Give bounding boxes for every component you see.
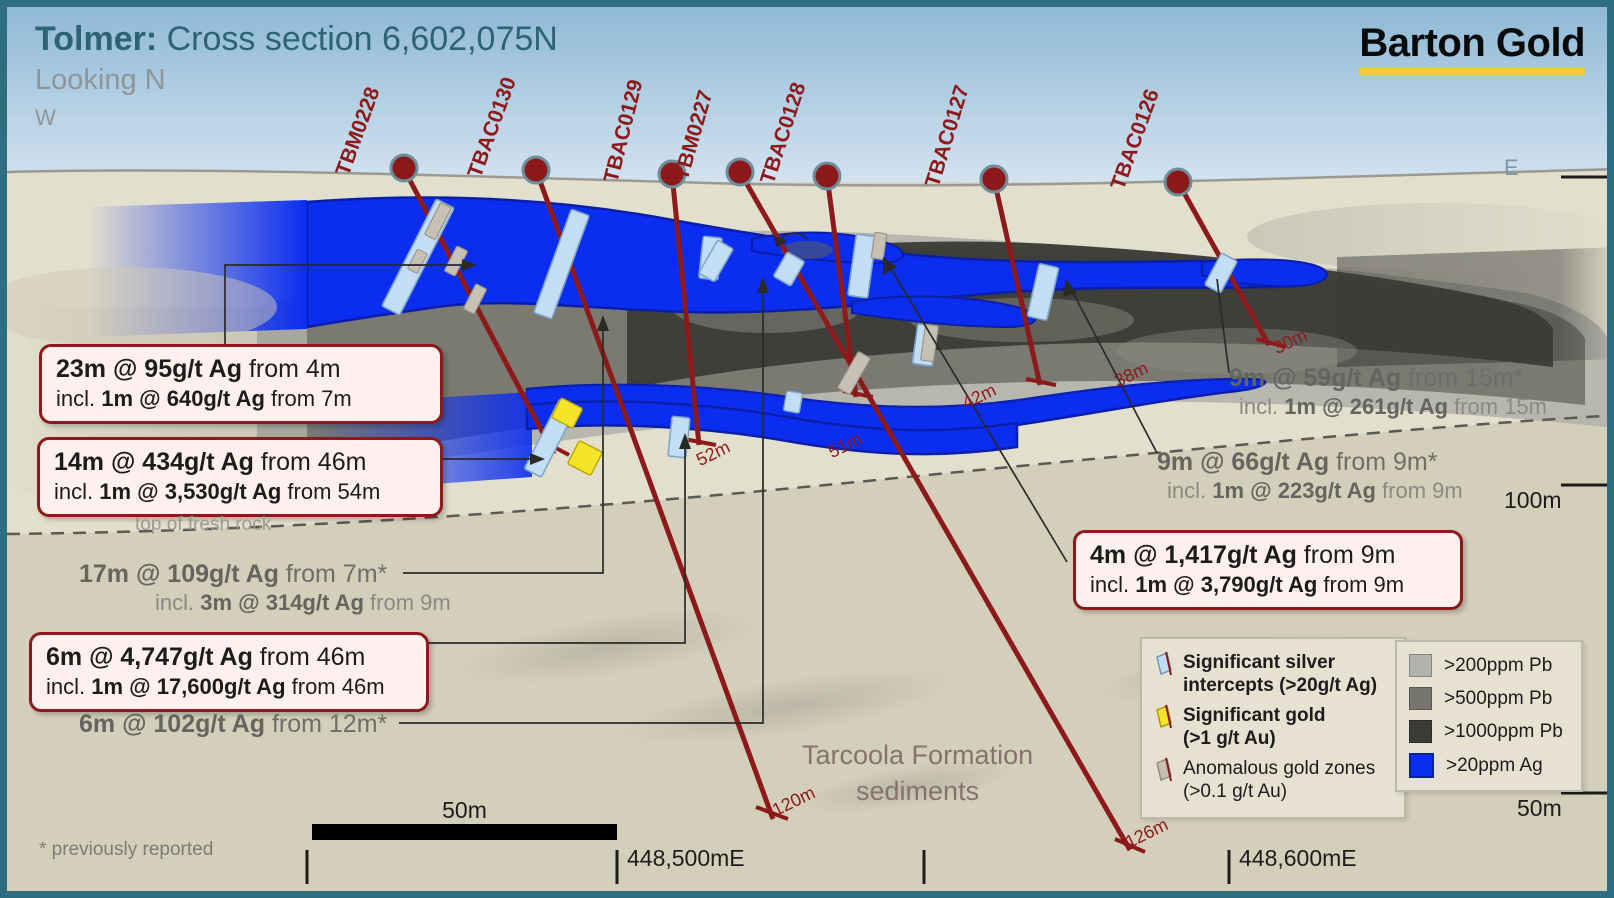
intercept-incl-value: 1m @ 3,530g/t Ag bbox=[99, 479, 281, 504]
intercept-line-1: 4m @ 1,417g/t Ag from 9m bbox=[1090, 540, 1446, 570]
intercept-line-2: incl. 3m @ 314g/t Ag from 9m bbox=[155, 589, 451, 616]
intercept-line-2: incl. 1m @ 640g/t Ag from 7m bbox=[56, 385, 426, 412]
intercept-line-2: incl. 1m @ 223g/t Ag from 9m bbox=[1167, 477, 1463, 504]
footnote-label: * previously reported bbox=[39, 839, 213, 861]
legend-silver-line2: intercepts (>20g/t Ag) bbox=[1183, 675, 1377, 696]
formation-label: Tarcoola Formation sediments bbox=[802, 737, 1033, 809]
legend-swatch-row-2: >1000ppm Pb bbox=[1409, 720, 1573, 743]
intercept-value: 6m @ 102g/t Ag bbox=[79, 710, 265, 738]
legend-label-anomalous: Anomalous gold zones (>0.1 g/t Au) bbox=[1183, 757, 1375, 803]
legend-silver-line1: Significant silver bbox=[1183, 652, 1335, 673]
intercept-line-1: 17m @ 109g/t Ag from 7m* bbox=[79, 559, 451, 589]
cross-section-figure: Tolmer: Cross section 6,602,075N Looking… bbox=[0, 0, 1614, 898]
intercept-from: from 9m bbox=[1297, 541, 1396, 569]
swatch-ag-20ppm bbox=[1409, 753, 1434, 778]
intercept-callout-2: 14m @ 434g/t Ag from 46m incl. 1m @ 3,53… bbox=[37, 437, 443, 517]
intercept-incl-prefix: incl. bbox=[54, 479, 99, 504]
legend-label-silver: Significant silver intercepts (>20g/t Ag… bbox=[1183, 651, 1377, 697]
intercept-callout-4: 6m @ 4,747g/t Ag from 46m incl. 1m @ 17,… bbox=[29, 632, 429, 712]
intercept-line-2: incl. 1m @ 17,600g/t Ag from 46m bbox=[46, 673, 412, 700]
legend-anomalous-line2: (>0.1 g/t Au) bbox=[1183, 781, 1287, 802]
title-bold: Tolmer: bbox=[35, 20, 157, 58]
swatch-label-ag-20ppm: >20ppm Ag bbox=[1446, 755, 1543, 777]
intercept-line-2: incl. 1m @ 3,790g/t Ag from 9m bbox=[1090, 571, 1446, 598]
easting-label-2: 448,600mE bbox=[1239, 845, 1357, 872]
intercept-callout-8: 4m @ 1,417g/t Ag from 9m incl. 1m @ 3,79… bbox=[1073, 530, 1463, 610]
intercept-incl-prefix: incl. bbox=[1239, 394, 1284, 419]
intercept-note-5: 6m @ 102g/t Ag from 12m* bbox=[79, 709, 387, 739]
intercept-line-2: incl. 1m @ 3,530g/t Ag from 54m bbox=[54, 478, 426, 505]
swatch-label-pb-500ppm: >500ppm Pb bbox=[1444, 688, 1552, 710]
intercept-incl-prefix: incl. bbox=[46, 674, 91, 699]
intercept-line-1: 14m @ 434g/t Ag from 46m bbox=[54, 447, 426, 477]
intercept-note-6: 9m @ 59g/t Ag from 15m* incl. 1m @ 261g/… bbox=[1229, 363, 1547, 420]
intercept-incl-value: 1m @ 640g/t Ag bbox=[101, 386, 265, 411]
intercept-from: from 15m* bbox=[1401, 364, 1523, 392]
ag-intercept-marker bbox=[783, 391, 802, 413]
formation-line-1: Tarcoola Formation bbox=[802, 737, 1033, 773]
swatch-pb-500ppm bbox=[1409, 687, 1432, 710]
intercept-value: 14m @ 434g/t Ag bbox=[54, 448, 254, 476]
intercept-incl-from: from 54m bbox=[281, 479, 380, 504]
intercept-incl-prefix: incl. bbox=[56, 386, 101, 411]
intercept-incl-from: from 7m bbox=[265, 386, 352, 411]
intercept-from: from 46m bbox=[253, 643, 366, 671]
compass-east-label: E bbox=[1504, 155, 1519, 181]
legend-label-gold: Significant gold (>1 g/t Au) bbox=[1183, 704, 1326, 750]
logo-text: Barton Gold bbox=[1359, 21, 1585, 66]
legend-symbols-panel: Significant silver intercepts (>20g/t Ag… bbox=[1140, 637, 1406, 819]
top-of-fresh-rock-label: top of fresh rock bbox=[135, 514, 271, 536]
title-rest: Cross section 6,602,075N bbox=[157, 20, 558, 58]
silver-intercept-icon bbox=[1154, 651, 1176, 677]
swatch-label-pb-200ppm: >200ppm Pb bbox=[1444, 655, 1552, 677]
legend-swatches-panel: >200ppm Pb >500ppm Pb >1000ppm Pb >20ppm… bbox=[1395, 640, 1583, 792]
intercept-value: 9m @ 59g/t Ag bbox=[1229, 364, 1401, 392]
intercept-incl-from: from 46m bbox=[286, 674, 385, 699]
intercept-from: from 46m bbox=[254, 448, 367, 476]
intercept-incl-value: 1m @ 3,790g/t Ag bbox=[1135, 572, 1317, 597]
collar-TBM0228 bbox=[391, 155, 417, 181]
legend-swatch-row-3: >20ppm Ag bbox=[1409, 753, 1573, 778]
intercept-incl-value: 3m @ 314g/t Ag bbox=[200, 590, 364, 615]
intercept-value: 23m @ 95g/t Ag bbox=[56, 355, 242, 383]
legend-swatch-row-1: >500ppm Pb bbox=[1409, 687, 1573, 710]
intercept-value: 17m @ 109g/t Ag bbox=[79, 560, 279, 588]
collar-TBAC0127 bbox=[981, 166, 1007, 192]
legend-row-anomalous: Anomalous gold zones (>0.1 g/t Au) bbox=[1154, 757, 1394, 803]
intercept-note-7: 9m @ 66g/t Ag from 9m* incl. 1m @ 223g/t… bbox=[1157, 447, 1463, 504]
intercept-line-1: 6m @ 4,747g/t Ag from 46m bbox=[46, 642, 412, 672]
intercept-value: 4m @ 1,417g/t Ag bbox=[1090, 541, 1297, 569]
scale-bar-group: 50m bbox=[312, 797, 617, 840]
swatch-label-pb-1000ppm: >1000ppm Pb bbox=[1444, 721, 1563, 743]
intercept-incl-from: from 9m bbox=[1376, 478, 1463, 503]
anomalous-gold-icon bbox=[1154, 757, 1176, 783]
intercept-note-3: 17m @ 109g/t Ag from 7m* incl. 3m @ 314g… bbox=[79, 559, 451, 616]
gold-intercept-icon bbox=[1154, 704, 1176, 730]
intercept-value: 9m @ 66g/t Ag bbox=[1157, 448, 1329, 476]
intercept-incl-prefix: incl. bbox=[1167, 478, 1212, 503]
scale-bar-label: 50m bbox=[312, 797, 617, 824]
legend-gold-line1: Significant gold bbox=[1183, 705, 1326, 726]
legend-row-gold: Significant gold (>1 g/t Au) bbox=[1154, 704, 1394, 750]
formation-line-2: sediments bbox=[802, 773, 1033, 809]
elevation-label-100m: 100m bbox=[1504, 487, 1562, 514]
intercept-incl-value: 1m @ 261g/t Ag bbox=[1284, 394, 1448, 419]
intercept-callout-1: 23m @ 95g/t Ag from 4m incl. 1m @ 640g/t… bbox=[39, 344, 443, 424]
company-logo: Barton Gold bbox=[1359, 21, 1585, 75]
legend-gold-line2: (>1 g/t Au) bbox=[1183, 728, 1276, 749]
page-subtitle: Looking N bbox=[35, 63, 558, 97]
swatch-pb-1000ppm bbox=[1409, 720, 1432, 743]
page-title: Tolmer: Cross section 6,602,075N bbox=[35, 19, 558, 59]
intercept-from: from 4m bbox=[242, 355, 341, 383]
intercept-incl-from: from 9m bbox=[364, 590, 451, 615]
intercept-line-1: 9m @ 66g/t Ag from 9m* bbox=[1157, 447, 1463, 477]
legend-anomalous-line1: Anomalous gold zones bbox=[1183, 758, 1375, 779]
intercept-line-1: 6m @ 102g/t Ag from 12m* bbox=[79, 709, 387, 739]
intercept-incl-from: from 15m bbox=[1448, 394, 1547, 419]
intercept-incl-from: from 9m bbox=[1317, 572, 1404, 597]
intercept-from: from 9m* bbox=[1329, 448, 1437, 476]
intercept-incl-prefix: incl. bbox=[155, 590, 200, 615]
collar-TBAC0128 bbox=[814, 163, 840, 189]
collar-TBAC0130 bbox=[523, 157, 549, 183]
intercept-incl-value: 1m @ 223g/t Ag bbox=[1212, 478, 1376, 503]
ag-intercept-marker bbox=[668, 416, 690, 458]
intercept-from: from 7m* bbox=[279, 560, 387, 588]
intercept-value: 6m @ 4,747g/t Ag bbox=[46, 643, 253, 671]
intercept-incl-value: 1m @ 17,600g/t Ag bbox=[91, 674, 285, 699]
collar-TBM0227 bbox=[727, 159, 753, 185]
intercept-line-2: incl. 1m @ 261g/t Ag from 15m bbox=[1239, 393, 1547, 420]
swatch-pb-200ppm bbox=[1409, 654, 1432, 677]
easting-label-1: 448,500mE bbox=[627, 845, 745, 872]
intercept-incl-prefix: incl. bbox=[1090, 572, 1135, 597]
logo-underline bbox=[1359, 68, 1585, 75]
intercept-line-1: 9m @ 59g/t Ag from 15m* bbox=[1229, 363, 1547, 393]
scale-bar-graphic bbox=[312, 824, 617, 840]
legend-swatch-row-0: >200ppm Pb bbox=[1409, 654, 1573, 677]
legend-row-silver: Significant silver intercepts (>20g/t Ag… bbox=[1154, 651, 1394, 697]
intercept-from: from 12m* bbox=[265, 710, 387, 738]
intercept-line-1: 23m @ 95g/t Ag from 4m bbox=[56, 354, 426, 384]
title-block: Tolmer: Cross section 6,602,075N Looking… bbox=[35, 19, 558, 131]
elevation-label-50m: 50m bbox=[1517, 795, 1562, 822]
collar-TBAC0126 bbox=[1165, 169, 1191, 195]
sediment-blob bbox=[1247, 203, 1614, 271]
